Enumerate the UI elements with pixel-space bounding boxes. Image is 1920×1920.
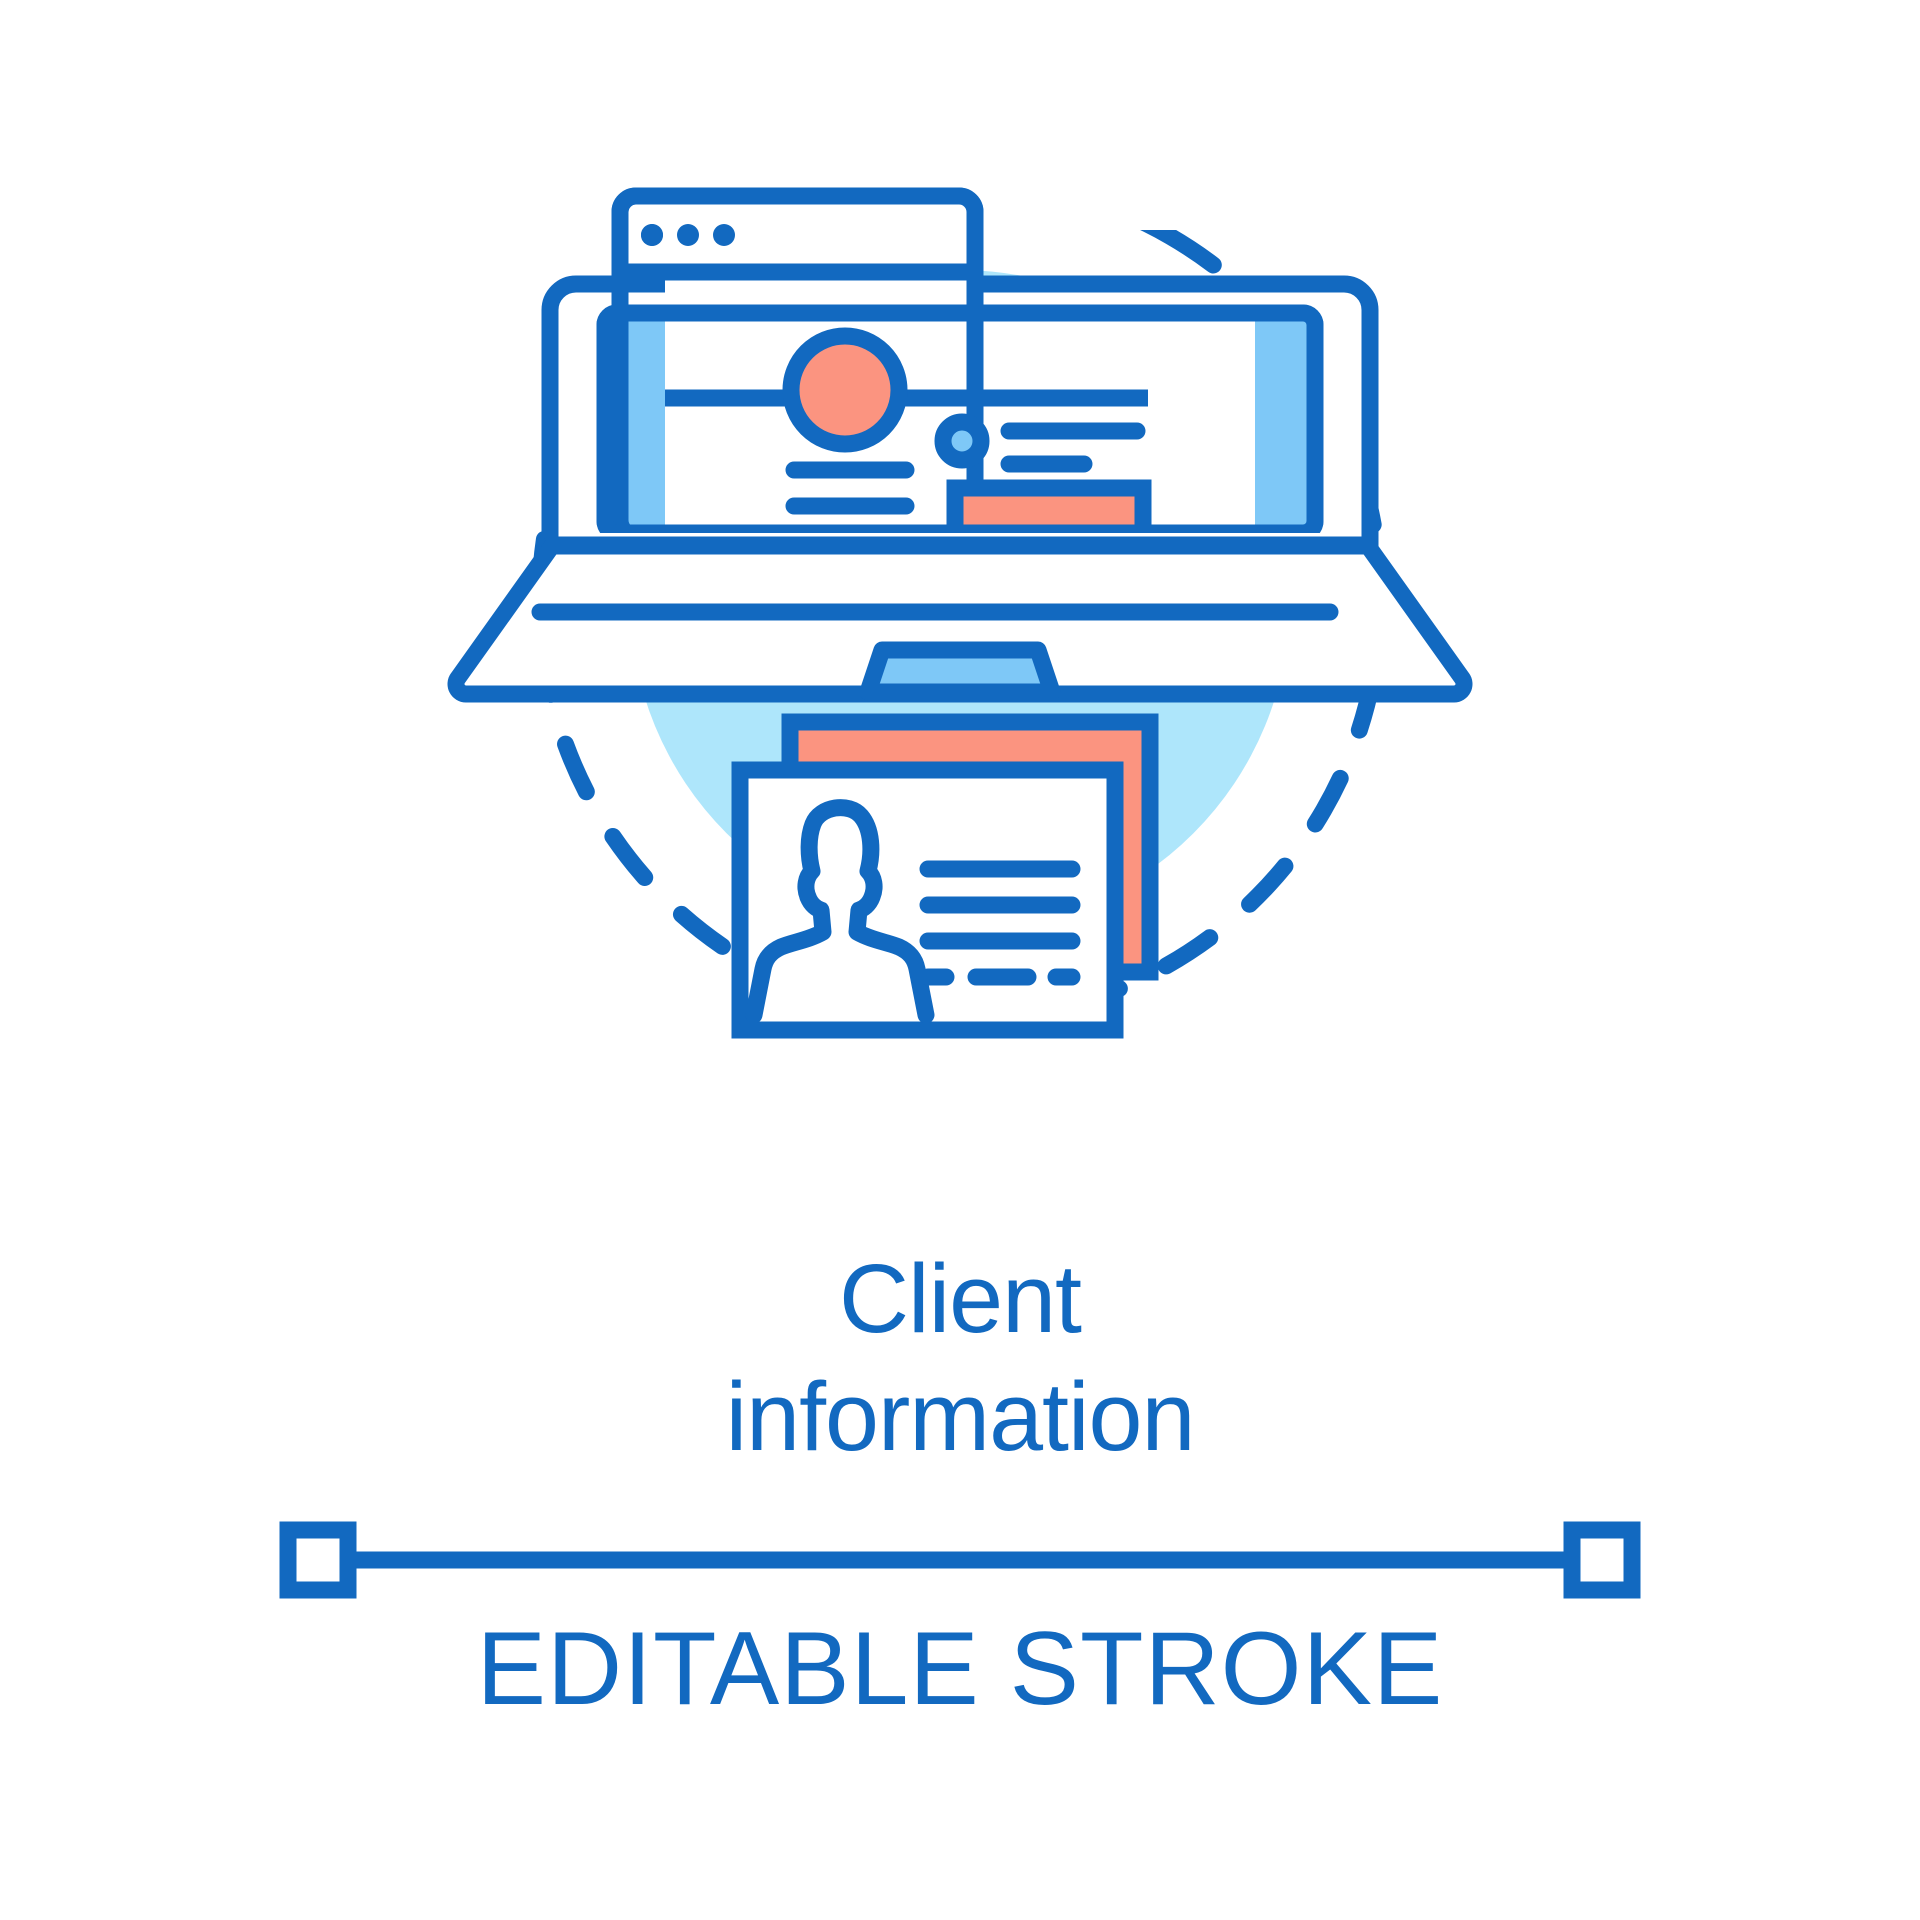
stroke-handle-left[interactable] xyxy=(288,1530,348,1590)
avatar-circle-icon xyxy=(791,336,899,444)
concept-caption: Client information xyxy=(0,1240,1920,1476)
laptop-side-panel-right xyxy=(1255,321,1307,525)
caption-line-2: information xyxy=(0,1358,1920,1476)
editable-stroke-label: EDITABLE STROKE xyxy=(0,1610,1920,1729)
caption-line-1: Client xyxy=(0,1240,1920,1358)
bullet-ring-icon xyxy=(943,422,981,460)
stroke-handle-right[interactable] xyxy=(1572,1530,1632,1590)
editable-stroke-bar xyxy=(0,1500,1920,1620)
client-information-illustration xyxy=(0,0,1920,1250)
concept-icon-canvas: Client information EDITABLE STROKE xyxy=(0,0,1920,1920)
trackpad-notch xyxy=(868,650,1052,692)
